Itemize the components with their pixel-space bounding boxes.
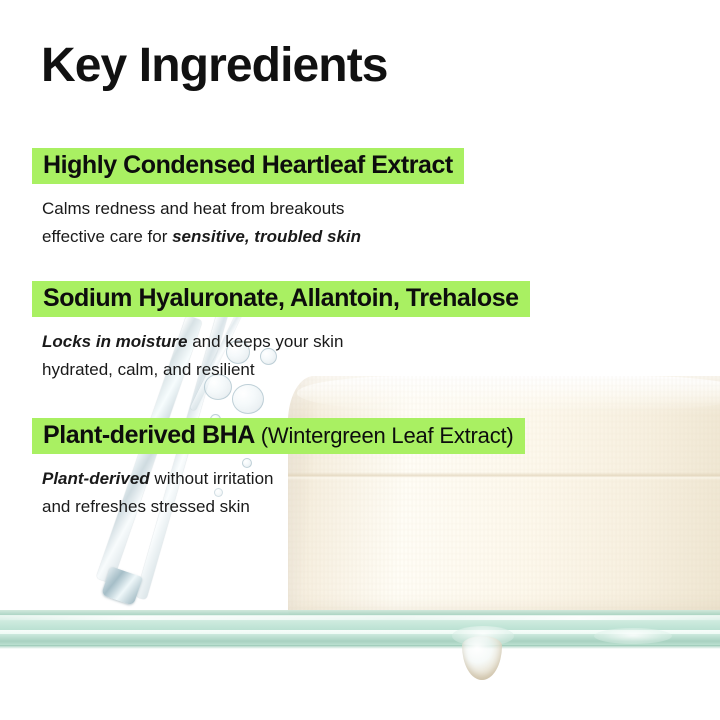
ingredient-2-description-line-1: Locks in moisture and keeps your skin — [42, 328, 530, 356]
ingredient-3-heading-subtext: (Wintergreen Leaf Extract) — [255, 423, 514, 448]
ingredient-2-description-line-2: hydrated, calm, and resilient — [42, 356, 530, 384]
ingredient-1-line2-text: effective care for — [42, 227, 172, 246]
ingredient-2-description: Locks in moisture and keeps your skin hy… — [42, 328, 530, 383]
ingredient-3-line2-text: and refreshes stressed skin — [42, 497, 250, 516]
product-ingredients-graphic: Key Ingredients Highly Condensed Heartle… — [0, 0, 720, 720]
page-title: Key Ingredients — [41, 38, 388, 93]
ingredient-3-description-line-1: Plant-derived without irritation — [42, 465, 525, 493]
ingredient-3-description-line-2: and refreshes stressed skin — [42, 493, 525, 521]
ingredient-1-description: Calms redness and heat from breakouts ef… — [42, 195, 464, 250]
ingredient-3-line1-emphasis: Plant-derived — [42, 469, 150, 488]
ingredient-2-line2-text: hydrated, calm, and resilient — [42, 360, 255, 379]
ingredient-3-description: Plant-derived without irritation and ref… — [42, 465, 525, 520]
ingredient-1-line1-text: Calms redness and heat from breakouts — [42, 199, 344, 218]
ingredient-2-line1-emphasis: Locks in moisture — [42, 332, 187, 351]
ingredient-2-heading-text: Sodium Hyaluronate, Allantoin, Trehalose — [43, 284, 519, 312]
text-overlay: Key Ingredients Highly Condensed Heartle… — [0, 0, 720, 720]
ingredient-3-heading: Plant-derived BHA (Wintergreen Leaf Extr… — [32, 418, 525, 454]
ingredient-1-heading: Highly Condensed Heartleaf Extract — [32, 148, 464, 184]
ingredient-2-line1-tail: and keeps your skin — [187, 332, 343, 351]
ingredient-block-2: Sodium Hyaluronate, Allantoin, Trehalose… — [32, 281, 530, 383]
ingredient-1-description-line-2: effective care for sensitive, troubled s… — [42, 223, 464, 251]
ingredient-1-heading-text: Highly Condensed Heartleaf Extract — [43, 151, 453, 179]
ingredient-2-heading: Sodium Hyaluronate, Allantoin, Trehalose — [32, 281, 530, 317]
ingredient-block-3: Plant-derived BHA (Wintergreen Leaf Extr… — [32, 418, 525, 520]
ingredient-3-heading-text: Plant-derived BHA — [43, 421, 255, 449]
ingredient-3-line1-tail: without irritation — [150, 469, 274, 488]
ingredient-1-line2-emphasis: sensitive, troubled skin — [172, 227, 361, 246]
ingredient-1-description-line-1: Calms redness and heat from breakouts — [42, 195, 464, 223]
ingredient-block-1: Highly Condensed Heartleaf Extract Calms… — [32, 148, 464, 250]
